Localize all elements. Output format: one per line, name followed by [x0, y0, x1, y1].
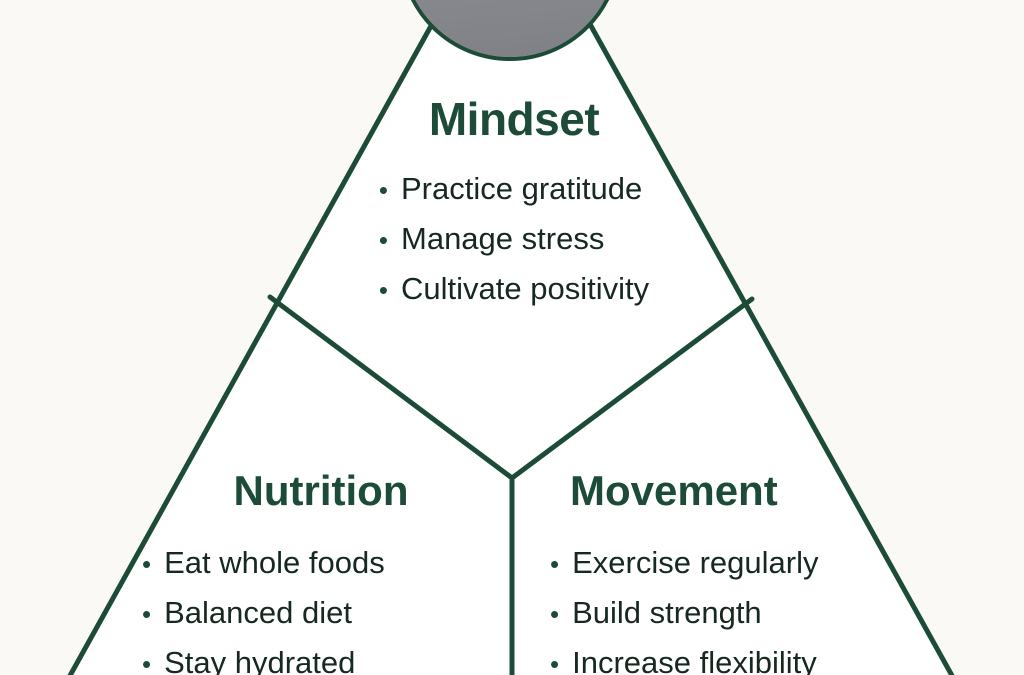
- section-mindset: Mindset • Practice gratitude • Manage st…: [330, 96, 698, 314]
- list-item-label: Manage stress: [401, 214, 604, 264]
- list-item-label: Exercise regularly: [572, 538, 818, 588]
- bullet-dot-icon: •: [550, 551, 559, 577]
- section-movement: Movement • Exercise regularly • Build st…: [540, 470, 940, 675]
- list-item-label: Cultivate positivity: [401, 264, 649, 314]
- photo-yoga-mat: [403, 0, 617, 61]
- bullet-list-mindset: • Practice gratitude • Manage stress • C…: [379, 164, 649, 314]
- bullet-dot-icon: •: [142, 601, 151, 627]
- bullet-dot-icon: •: [142, 551, 151, 577]
- bullet-dot-icon: •: [379, 277, 388, 303]
- bullet-dot-icon: •: [550, 651, 559, 675]
- list-item: • Increase flexibility: [550, 638, 940, 675]
- section-nutrition: Nutrition • Eat whole foods • Balanced d…: [120, 470, 500, 675]
- list-item-label: Practice gratitude: [401, 164, 642, 214]
- list-item: • Manage stress: [379, 214, 649, 264]
- list-item: • Practice gratitude: [379, 164, 649, 214]
- list-item-label: Increase flexibility: [572, 638, 817, 675]
- infographic-canvas: Mindset • Practice gratitude • Manage st…: [0, 0, 1024, 675]
- list-item-label: Build strength: [572, 588, 762, 638]
- list-item: • Stay hydrated: [142, 638, 500, 675]
- list-item: • Balanced diet: [142, 588, 500, 638]
- bullet-list-movement: • Exercise regularly • Build strength • …: [540, 538, 940, 675]
- list-item: • Cultivate positivity: [379, 264, 649, 314]
- list-item-label: Eat whole foods: [164, 538, 385, 588]
- list-item-label: Balanced diet: [164, 588, 352, 638]
- section-title-movement: Movement: [540, 470, 940, 512]
- list-item: • Eat whole foods: [142, 538, 500, 588]
- list-item: • Build strength: [550, 588, 940, 638]
- list-item: • Exercise regularly: [550, 538, 940, 588]
- bullet-dot-icon: •: [142, 651, 151, 675]
- bullet-dot-icon: •: [379, 227, 388, 253]
- section-title-nutrition: Nutrition: [120, 470, 500, 512]
- yoga-photo-circle: [399, 0, 621, 61]
- bullet-dot-icon: •: [550, 601, 559, 627]
- bullet-dot-icon: •: [379, 177, 388, 203]
- section-title-mindset: Mindset: [330, 96, 698, 142]
- bullet-list-nutrition: • Eat whole foods • Balanced diet • Stay…: [120, 538, 500, 675]
- list-item-label: Stay hydrated: [164, 638, 355, 675]
